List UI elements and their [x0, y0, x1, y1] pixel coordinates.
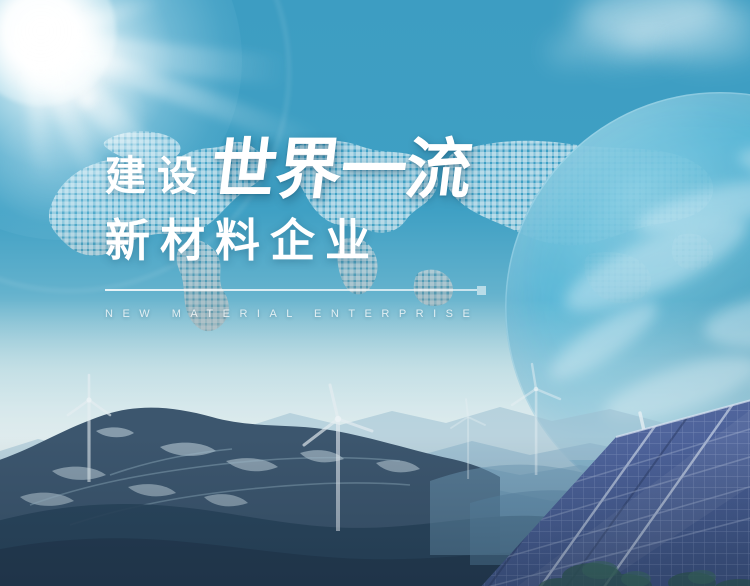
- landscape-scene: [0, 355, 750, 586]
- lens-flare-ghost: [74, 86, 100, 112]
- headline-subtitle-english: NEW MATERIAL ENTERPRISE: [105, 309, 525, 320]
- headline-divider: [105, 289, 477, 291]
- hero-banner: 建设 世界一流 新材料企业 NEW MATERIAL ENTERPRISE: [0, 0, 750, 586]
- headline-block: 建设 世界一流 新材料企业 NEW MATERIAL ENTERPRISE: [105, 128, 525, 320]
- headline-hero: 世界一流: [207, 136, 475, 202]
- solar-panel-array: [440, 377, 750, 586]
- headline-kicker: 建设: [105, 156, 209, 202]
- headline-line-2: 新材料企业: [105, 218, 525, 263]
- headline-line-1: 建设 世界一流: [105, 128, 525, 202]
- wind-turbine: [62, 373, 116, 483]
- divider-end-cap: [477, 286, 486, 295]
- wind-turbine: [300, 383, 376, 533]
